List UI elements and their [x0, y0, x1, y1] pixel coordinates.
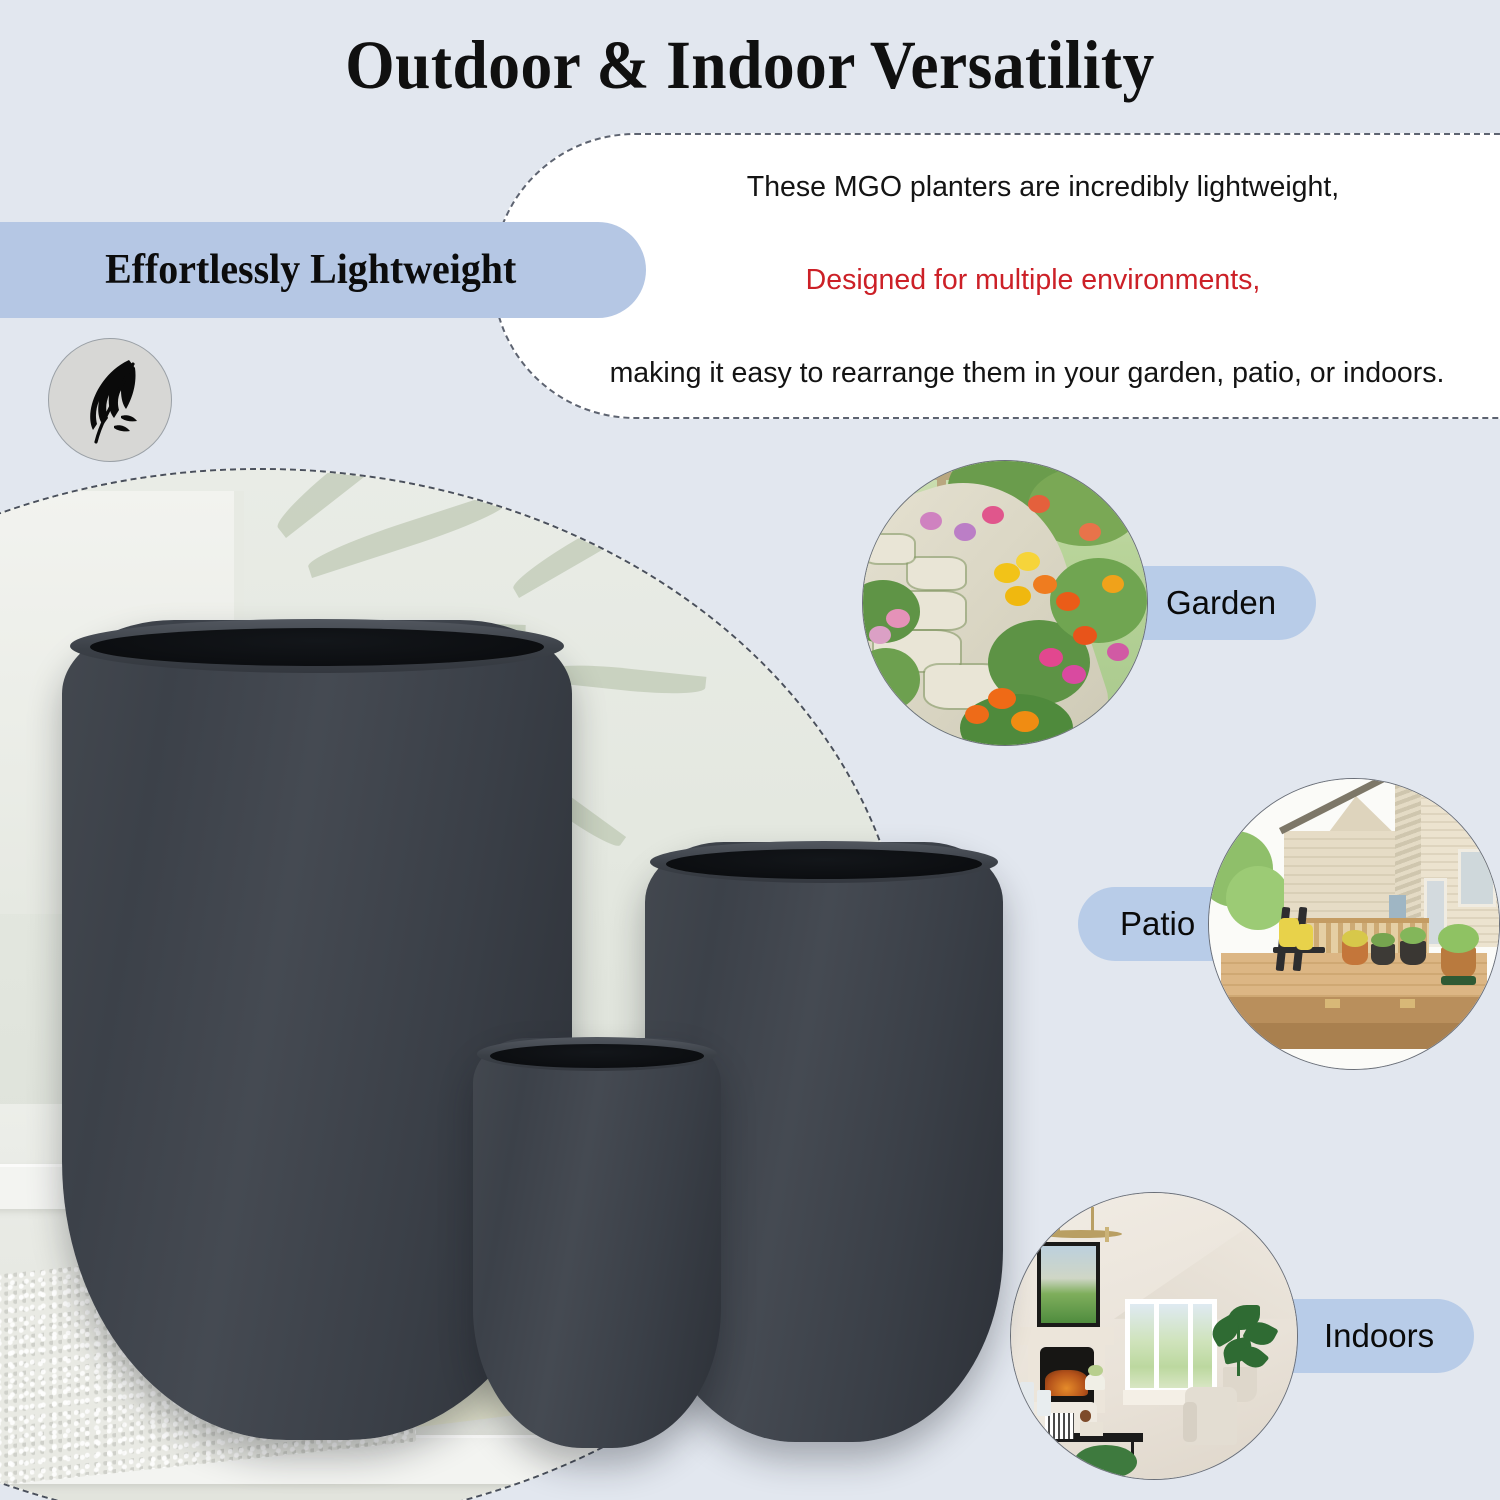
usecase-indoors-image	[1010, 1192, 1298, 1480]
usecase-patio-label: Patio	[1120, 905, 1195, 943]
usecase-patio: Patio	[1070, 778, 1500, 1070]
feather-icon	[71, 354, 149, 446]
feather-icon-circle	[48, 338, 172, 462]
small-planter-opening	[490, 1044, 703, 1068]
description-line-1: These MGO planters are incredibly lightw…	[494, 173, 1500, 202]
usecase-patio-image	[1208, 778, 1500, 1070]
usecase-indoors: Indoors	[1010, 1192, 1500, 1480]
feature-badge: Effortlessly Lightweight	[0, 222, 646, 318]
usecase-garden-label: Garden	[1166, 584, 1276, 622]
small-planter	[473, 1038, 721, 1448]
page-title: Outdoor & Indoor Versatility	[60, 26, 1440, 105]
usecase-indoors-label: Indoors	[1324, 1317, 1434, 1355]
large-planter-opening	[90, 628, 544, 666]
usecase-garden-image	[862, 460, 1148, 746]
medium-planter-opening	[666, 849, 981, 879]
feature-badge-label: Effortlessly Lightweight	[105, 246, 528, 294]
usecase-garden: Garden	[862, 460, 1500, 746]
infographic-canvas: Outdoor & Indoor Versatility These MGO p…	[0, 0, 1500, 1500]
description-line-3: making it easy to rearrange them in your…	[494, 359, 1500, 388]
